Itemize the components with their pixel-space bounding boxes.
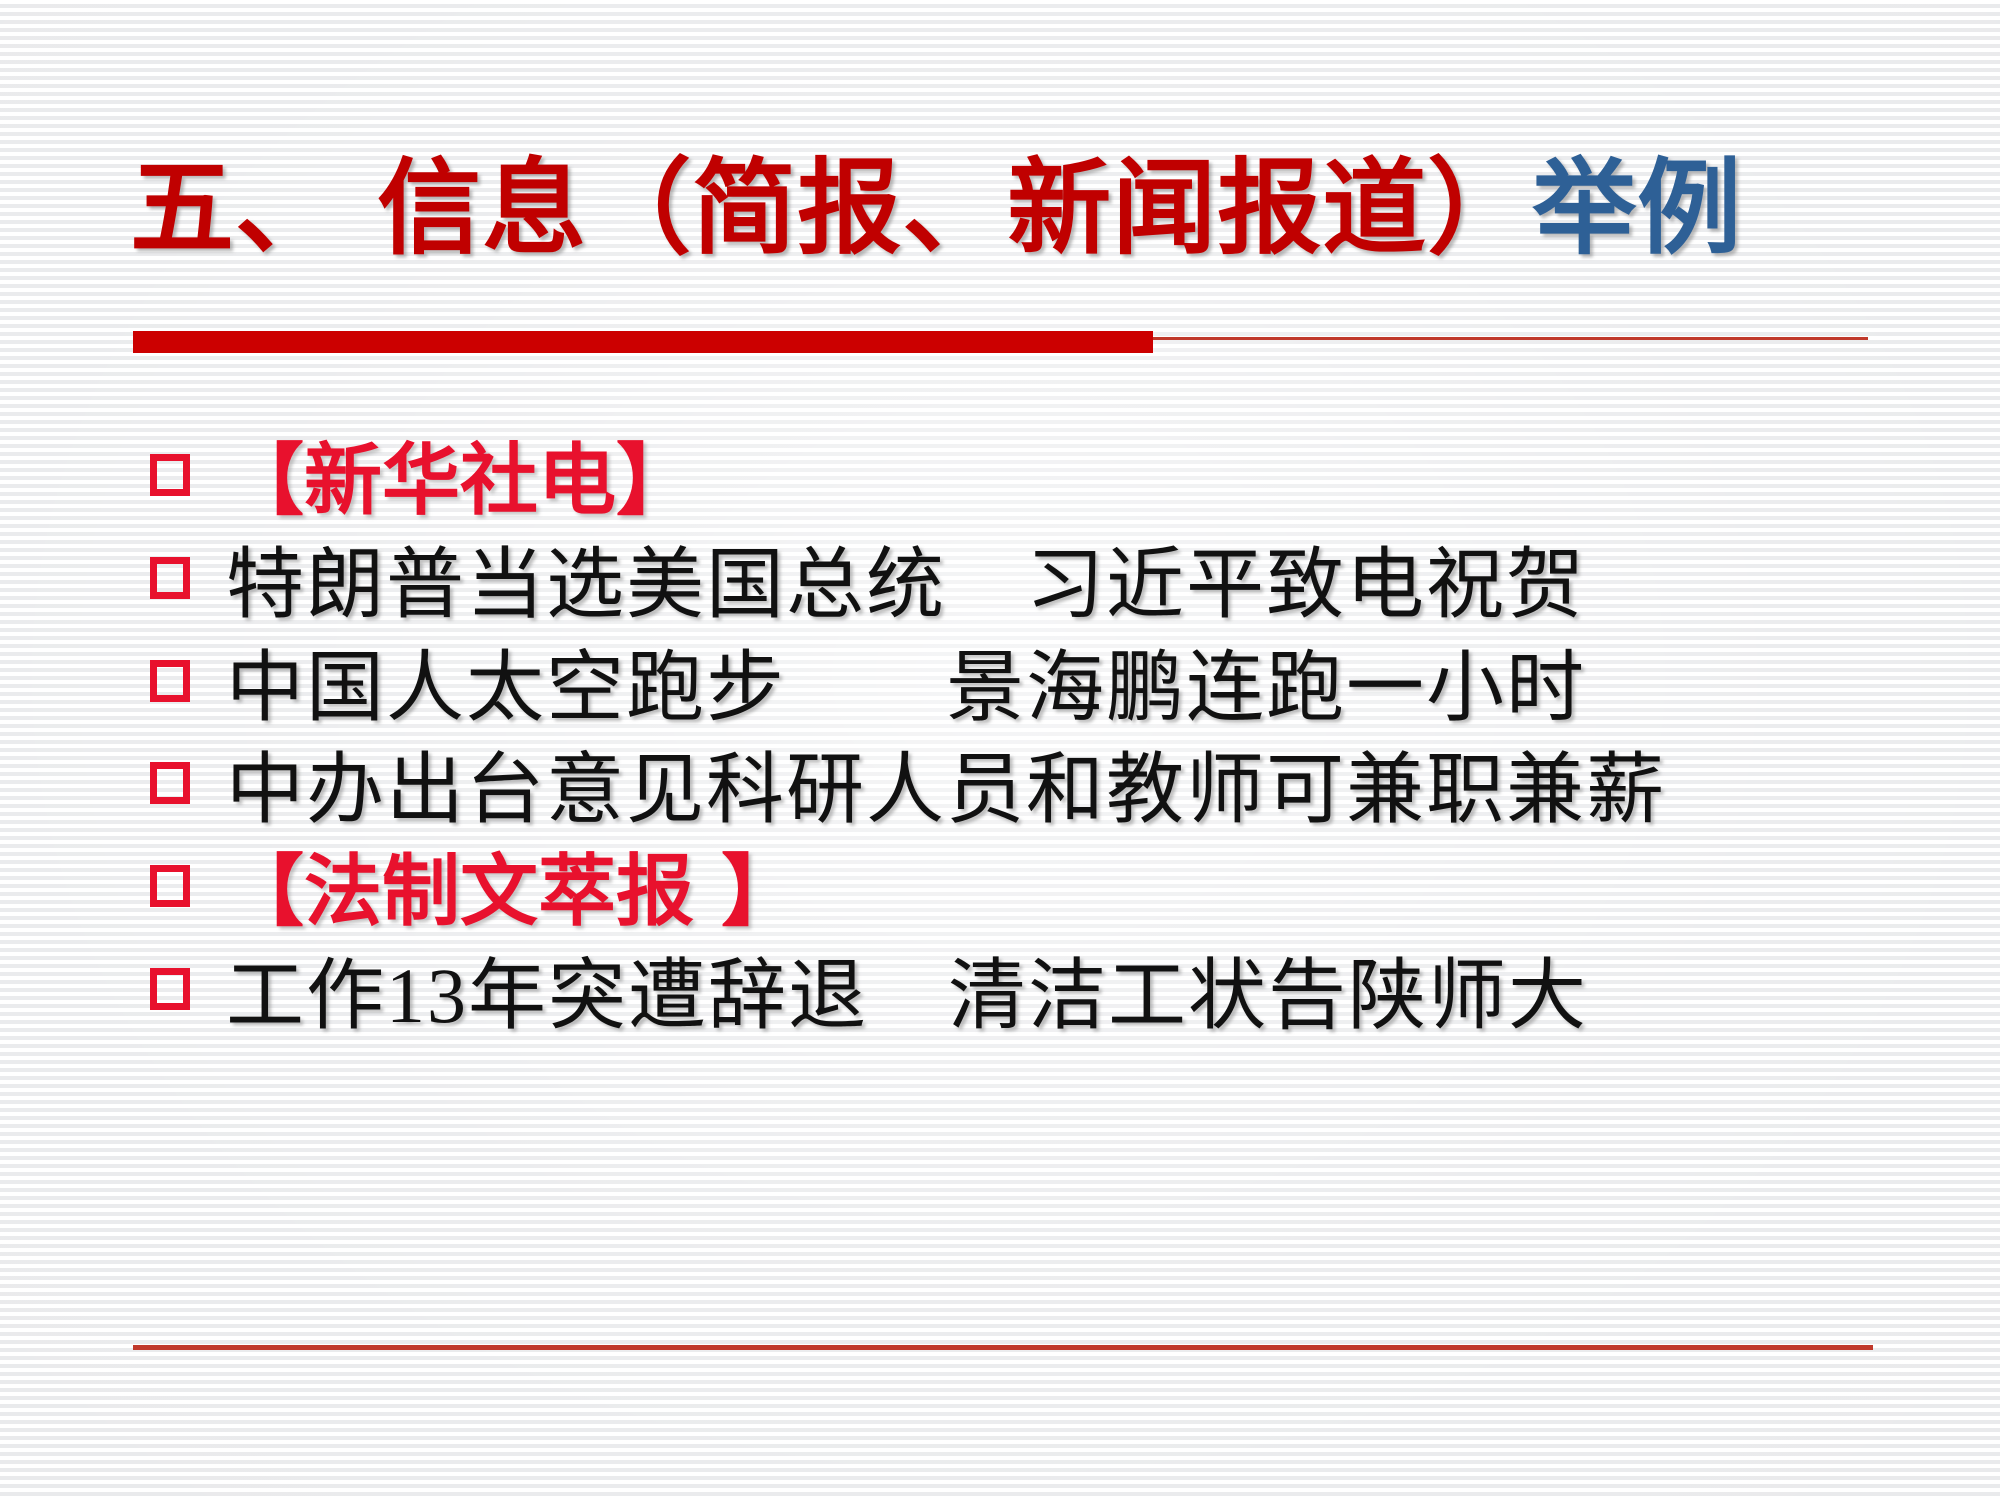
list-item-label: 工作13年突遭辞退 清洁工状告陕师大 xyxy=(226,946,1910,1046)
list-item-label: 中办出台意见科研人员和教师可兼职兼薪 xyxy=(226,740,1910,840)
title-block: 五、 信息（简报、新闻报道）举例 xyxy=(130,150,1930,295)
list-item: 工作13年突遭辞退 清洁工状告陕师大 xyxy=(150,946,1910,1046)
list-item-label: 【法制文萃报 】 xyxy=(226,843,1910,943)
footer-rule xyxy=(133,1345,1873,1350)
page-title-red-segment: 五、 信息（简报、新闻报道） xyxy=(130,147,1532,269)
list-item: 中办出台意见科研人员和教师可兼职兼薪 xyxy=(150,740,1910,840)
hollow-square-bullet-icon xyxy=(150,865,190,907)
list-item: 【新华社电】 xyxy=(150,432,1910,532)
list-item: 【法制文萃报 】 xyxy=(150,843,1910,943)
slide-canvas: 五、 信息（简报、新闻报道）举例 【新华社电】 特朗普当选美国总统 习近平致电祝… xyxy=(0,0,2000,1500)
hollow-square-bullet-icon xyxy=(150,762,190,804)
body-bullet-list: 【新华社电】 特朗普当选美国总统 习近平致电祝贺 中国人太空跑步 景海鹏连跑一小… xyxy=(150,432,1910,1049)
title-underline-thick xyxy=(133,331,1153,353)
hollow-square-bullet-icon xyxy=(150,660,190,702)
list-item-label: 【新华社电】 xyxy=(226,432,1910,532)
hollow-square-bullet-icon xyxy=(150,968,190,1010)
list-item-label: 中国人太空跑步 景海鹏连跑一小时 xyxy=(226,638,1910,738)
page-title-blue-segment: 举例 xyxy=(1532,147,1742,269)
hollow-square-bullet-icon xyxy=(150,454,190,496)
hollow-square-bullet-icon xyxy=(150,557,190,599)
page-title: 五、 信息（简报、新闻报道）举例 xyxy=(130,150,1930,266)
list-item: 特朗普当选美国总统 习近平致电祝贺 xyxy=(150,535,1910,635)
list-item-label: 特朗普当选美国总统 习近平致电祝贺 xyxy=(226,535,1910,635)
list-item: 中国人太空跑步 景海鹏连跑一小时 xyxy=(150,638,1910,738)
